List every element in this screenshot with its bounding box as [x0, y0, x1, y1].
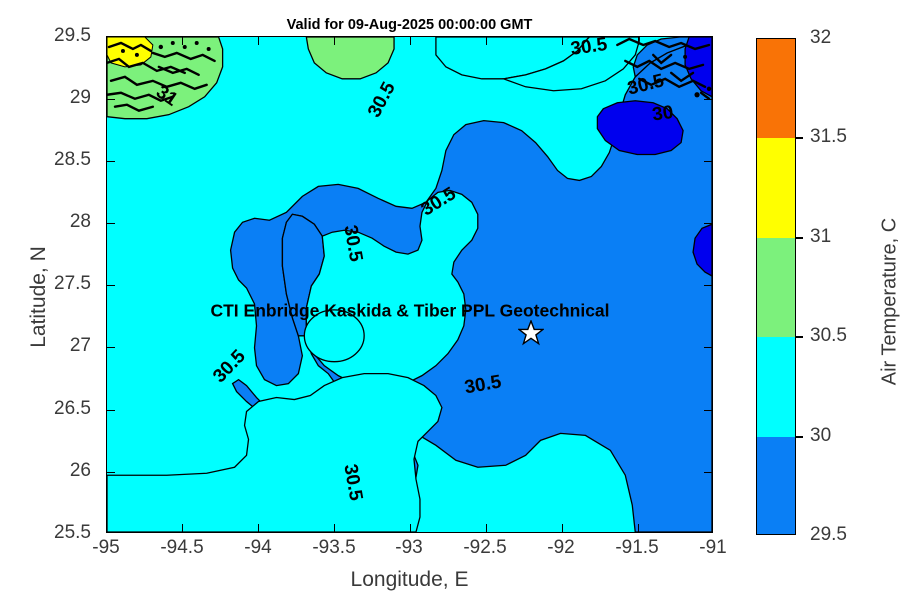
page-title: Valid for 09-Aug-2025 00:00:00 GMT [106, 17, 713, 33]
contour-label-layer: 31 30.5 30.5 30.5 30.5 30 30.5 30.5 30.5… [107, 37, 712, 532]
x-tick-m93: -93 [395, 537, 422, 559]
x-tick-m92p5: -92.5 [463, 537, 506, 559]
contour-label-30p5-f: 30.5 [339, 462, 366, 502]
x-tick-m93p5: -93.5 [312, 537, 355, 559]
y-axis-labels: 29.5 29 28.5 28 27.5 27 26.5 26 25.5 [8, 36, 100, 533]
y-tick-29: 29 [70, 87, 100, 109]
y-tick-28: 28 [70, 211, 100, 233]
y-tick-29p5: 29.5 [54, 25, 100, 47]
colorbar-tick-31: 31 [810, 226, 831, 248]
contour-label-30p5-e: 30.5 [209, 346, 250, 387]
star-marker[interactable] [518, 320, 544, 346]
contour-label-30a: 30 [651, 102, 675, 126]
contour-map-plot[interactable]: 31 30.5 30.5 30.5 30.5 30 30.5 30.5 30.5… [106, 36, 713, 533]
x-axis-title: Longitude, E [106, 568, 713, 592]
x-axis-labels: -95 -94.5 -94 -93.5 -93 -92.5 -92 -91.5 … [106, 537, 713, 571]
colorbar-band-29p5-30 [757, 437, 795, 535]
contour-label-31a: 31 [152, 82, 181, 111]
contour-label-30p5-a: 30.5 [364, 79, 400, 121]
contour-label-30p5-b: 30.5 [417, 183, 459, 220]
colorbar-tick-29p5: 29.5 [810, 524, 847, 546]
y-axis-title: Latitude, N [27, 172, 51, 422]
colorbar-tick-30: 30 [810, 425, 831, 447]
colorbar[interactable] [756, 38, 796, 535]
x-tick-m92: -92 [547, 537, 574, 559]
x-tick-m91: -91 [699, 537, 726, 559]
colorbar-tick-30p5: 30.5 [810, 325, 847, 347]
station-annotation-label: CTI Enbridge Kaskida & Tiber PPL Geotech… [210, 301, 609, 322]
y-tick-27p5: 27.5 [54, 273, 100, 295]
contour-label-30p5-d: 30.5 [625, 70, 666, 99]
y-tick-26: 26 [70, 460, 100, 482]
x-tick-m94: -94 [244, 537, 271, 559]
colorbar-band-31p5-32 [757, 39, 795, 138]
colorbar-tick-32: 32 [810, 27, 831, 49]
colorbar-tick-31p5: 31.5 [810, 126, 847, 148]
x-tick-m91p5: -91.5 [615, 537, 658, 559]
y-tick-26p5: 26.5 [54, 398, 100, 420]
colorbar-tickmark-30p5 [796, 336, 803, 338]
colorbar-title: Air Temperature, C [879, 172, 900, 432]
y-tick-28p5: 28.5 [54, 149, 100, 171]
figure-canvas: Valid for 09-Aug-2025 00:00:00 GMT [0, 0, 900, 600]
colorbar-band-30-30p5 [757, 337, 795, 436]
contour-label-30p5-g: 30.5 [463, 371, 503, 398]
colorbar-tickmark-31p5 [796, 137, 803, 139]
y-tick-27: 27 [70, 335, 100, 357]
contour-label-30p5-c: 30.5 [339, 223, 366, 263]
colorbar-tickmark-31 [796, 237, 803, 239]
contour-label-30p5-h: 30.5 [569, 37, 608, 60]
x-tick-m94p5: -94.5 [160, 537, 203, 559]
colorbar-tickmark-30 [796, 436, 803, 438]
x-tick-m95: -95 [92, 537, 119, 559]
colorbar-band-30p5-31 [757, 238, 795, 337]
colorbar-band-31-31p5 [757, 138, 795, 237]
